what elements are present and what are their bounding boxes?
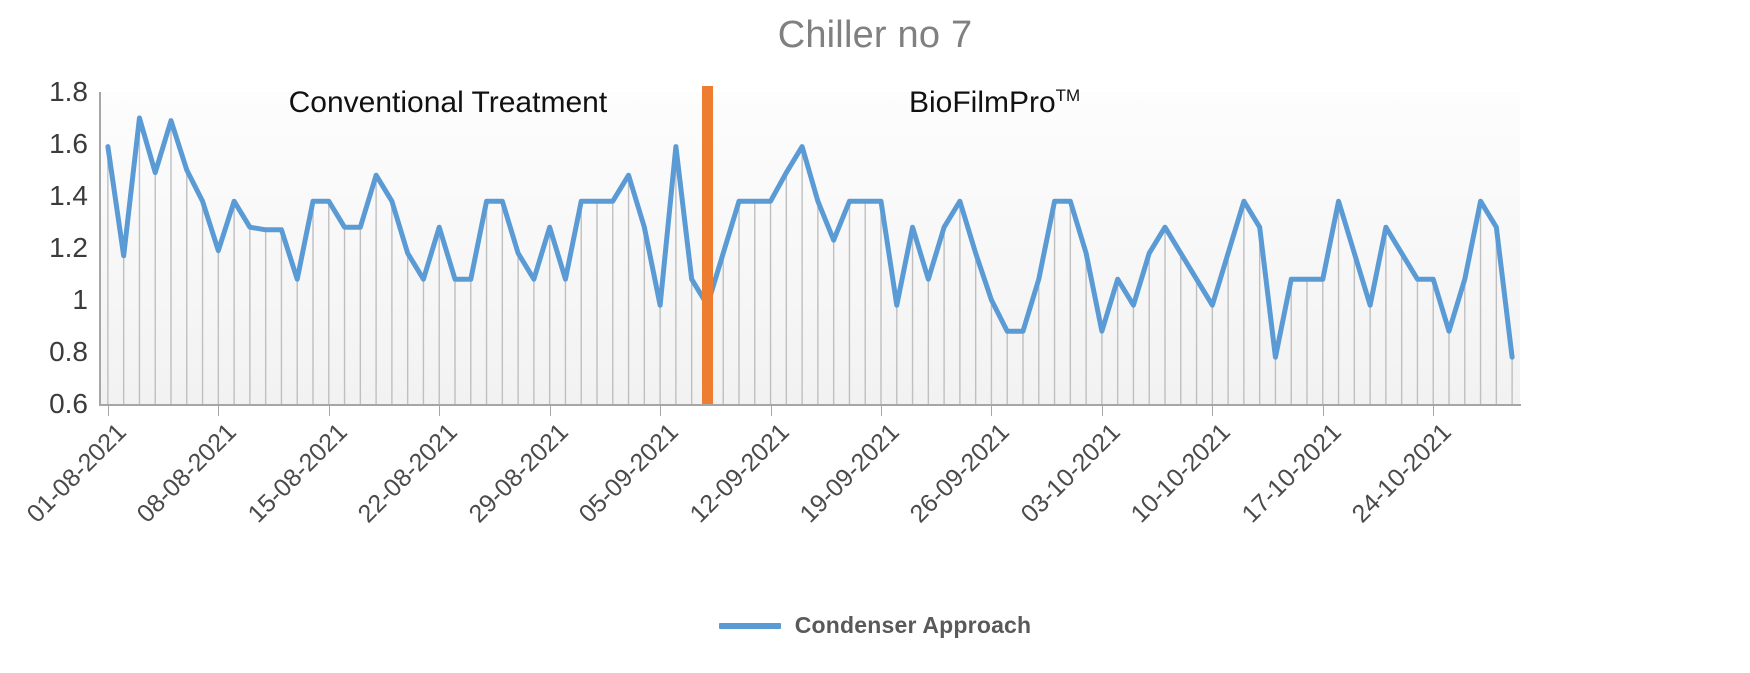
x-axis-tick — [439, 404, 440, 416]
x-tick-label-text: 19-09-2021 — [795, 418, 906, 529]
x-tick-label-text: 26-09-2021 — [905, 418, 1016, 529]
x-axis-tick — [1433, 404, 1434, 416]
y-tick-label: 1.6 — [18, 128, 88, 160]
x-tick-label-text: 22-08-2021 — [353, 418, 464, 529]
annotation-text: BioFilmPro — [909, 86, 1056, 119]
legend-label-condenser-approach: Condenser Approach — [795, 612, 1032, 639]
trademark-superscript: TM — [1056, 86, 1081, 105]
x-axis-tick — [1102, 404, 1103, 416]
x-tick-label-text: 29-08-2021 — [463, 418, 574, 529]
x-axis-tick — [108, 404, 109, 416]
x-axis-tick — [1323, 404, 1324, 416]
x-axis-tick — [329, 404, 330, 416]
chart-container: Chiller no 7 1.81.61.41.210.80.6 01-08-2… — [0, 0, 1750, 673]
x-axis-tick — [660, 404, 661, 416]
x-tick-label-text: 10-10-2021 — [1126, 418, 1237, 529]
x-tick-label-text: 17-10-2021 — [1236, 418, 1347, 529]
annotation-left-phase: Conventional Treatment — [289, 86, 608, 120]
x-axis-tick — [218, 404, 219, 416]
chart-title: Chiller no 7 — [0, 14, 1750, 57]
treatment-switch-marker — [702, 86, 713, 404]
chart-legend: Condenser Approach — [0, 612, 1750, 639]
x-axis-tick — [550, 404, 551, 416]
x-axis-tick — [771, 404, 772, 416]
x-tick-label-text: 03-10-2021 — [1015, 418, 1126, 529]
y-axis-line — [99, 92, 101, 405]
x-tick-label-text: 12-09-2021 — [684, 418, 795, 529]
y-tick-label: 1.2 — [18, 232, 88, 264]
legend-swatch-condenser-approach — [719, 623, 781, 629]
annotation-right-phase: BioFilmProTM — [909, 86, 1080, 120]
x-axis-tick — [991, 404, 992, 416]
x-tick-label-text: 08-08-2021 — [132, 418, 243, 529]
y-tick-label: 0.6 — [18, 388, 88, 420]
annotation-text: Conventional Treatment — [289, 86, 608, 119]
y-tick-label: 1.4 — [18, 180, 88, 212]
x-tick-label-text: 24-10-2021 — [1347, 418, 1458, 529]
series-line-condenser-approach — [108, 118, 1512, 357]
y-tick-label: 0.8 — [18, 336, 88, 368]
x-axis-tick — [881, 404, 882, 416]
y-axis-labels: 1.81.61.41.210.80.6 — [8, 0, 88, 673]
x-tick-label-text: 15-08-2021 — [242, 418, 353, 529]
x-axis-tick — [1212, 404, 1213, 416]
y-tick-label: 1.8 — [18, 76, 88, 108]
x-tick-label-text: 05-09-2021 — [574, 418, 685, 529]
y-tick-label: 1 — [18, 284, 88, 316]
